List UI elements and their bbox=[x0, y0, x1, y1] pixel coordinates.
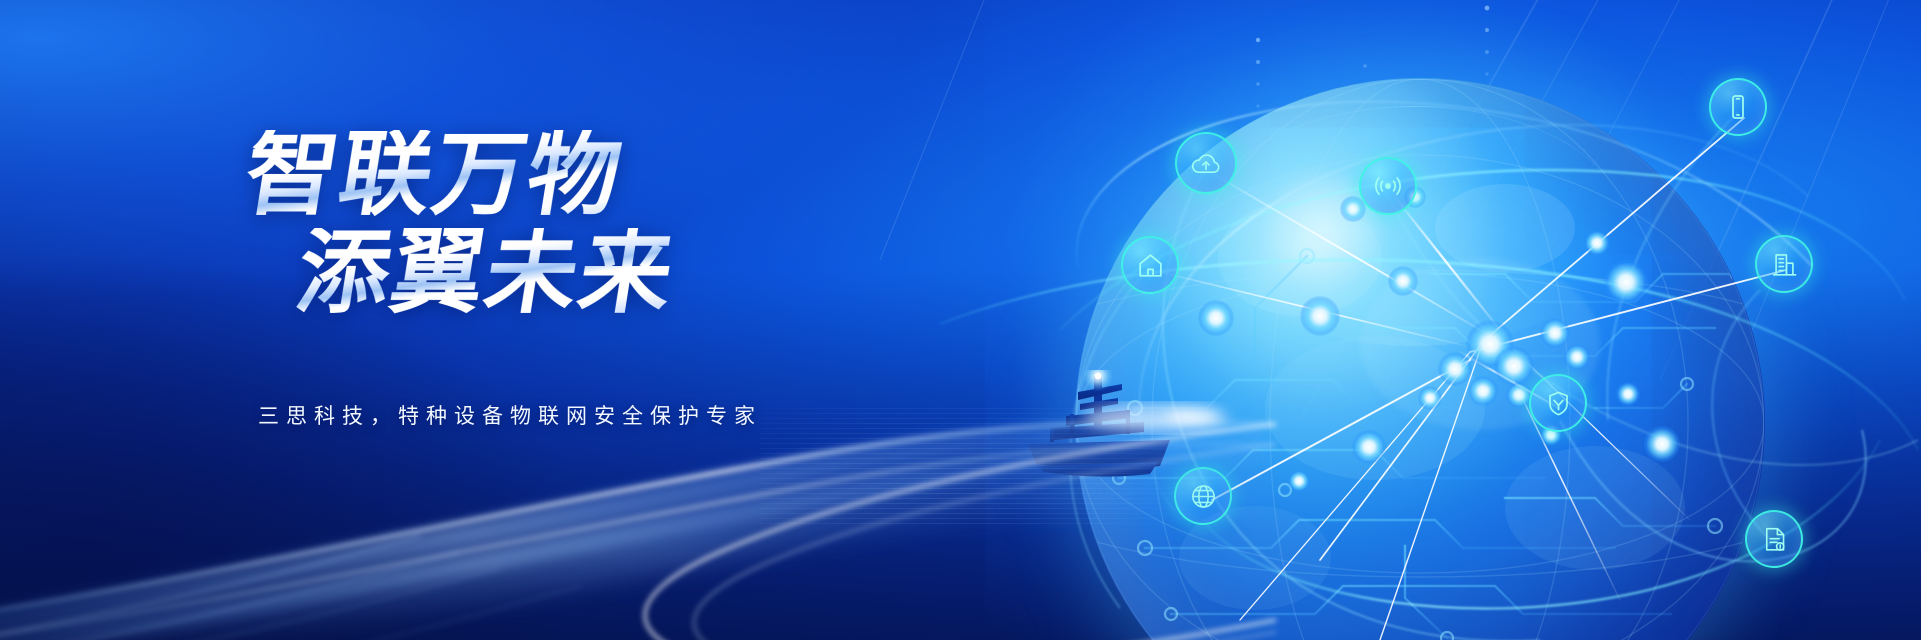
building-glyph bbox=[1769, 249, 1800, 280]
building-icon[interactable] bbox=[1755, 235, 1813, 293]
cloud-upload-glyph bbox=[1189, 146, 1223, 180]
water-reflection bbox=[760, 408, 1190, 528]
page-title: 智联万物 添翼未来 bbox=[246, 130, 674, 318]
banner-subtitle: 三思科技，特种设备物联网安全保护专家 bbox=[258, 400, 762, 430]
document-icon[interactable] bbox=[1745, 510, 1803, 568]
document-glyph bbox=[1759, 524, 1790, 555]
hero-banner: 智联万物 添翼未来 三思科技，特种设备物联网安全保护专家 bbox=[0, 0, 1921, 640]
headline-line-2: 添翼未来 bbox=[291, 228, 681, 318]
wifi-signal-icon[interactable] bbox=[1359, 157, 1417, 215]
smartphone-icon[interactable] bbox=[1709, 78, 1767, 136]
shield-icon[interactable] bbox=[1529, 374, 1587, 432]
smartphone-glyph bbox=[1723, 92, 1753, 122]
home-glyph bbox=[1135, 250, 1166, 281]
shield-glyph bbox=[1543, 388, 1574, 419]
headline-line-1: 智联万物 bbox=[239, 130, 681, 220]
wifi-signal-glyph bbox=[1372, 170, 1404, 202]
home-icon[interactable] bbox=[1121, 236, 1179, 294]
cloud-upload-icon[interactable] bbox=[1175, 132, 1237, 194]
